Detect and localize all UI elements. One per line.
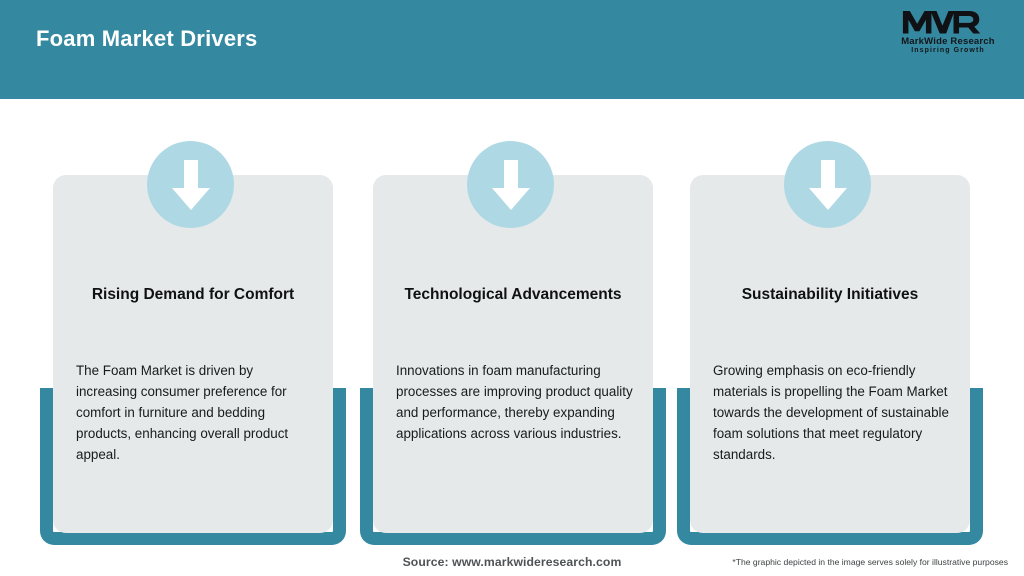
driver-cards: Rising Demand for Comfort The Foam Marke…: [0, 0, 1024, 576]
card-panel: Sustainability Initiatives Growing empha…: [690, 175, 970, 533]
card-panel: Technological Advancements Innovations i…: [373, 175, 653, 533]
driver-card-1: Rising Demand for Comfort The Foam Marke…: [40, 141, 346, 545]
card-title: Technological Advancements: [385, 285, 641, 304]
card-title: Sustainability Initiatives: [702, 285, 958, 304]
card-body: Growing emphasis on eco-friendly materia…: [713, 361, 954, 466]
card-body: Innovations in foam manufacturing proces…: [396, 361, 637, 445]
arrow-down-icon: [467, 141, 554, 228]
disclaimer-note: *The graphic depicted in the image serve…: [732, 557, 1008, 567]
card-body: The Foam Market is driven by increasing …: [76, 361, 317, 466]
arrow-down-icon: [147, 141, 234, 228]
card-panel: Rising Demand for Comfort The Foam Marke…: [53, 175, 333, 533]
arrow-down-icon: [784, 141, 871, 228]
driver-card-2: Technological Advancements Innovations i…: [360, 141, 666, 545]
driver-card-3: Sustainability Initiatives Growing empha…: [677, 141, 983, 545]
slide-root: Foam Market Drivers MarkWide Research In…: [0, 0, 1024, 576]
card-title: Rising Demand for Comfort: [65, 285, 321, 304]
